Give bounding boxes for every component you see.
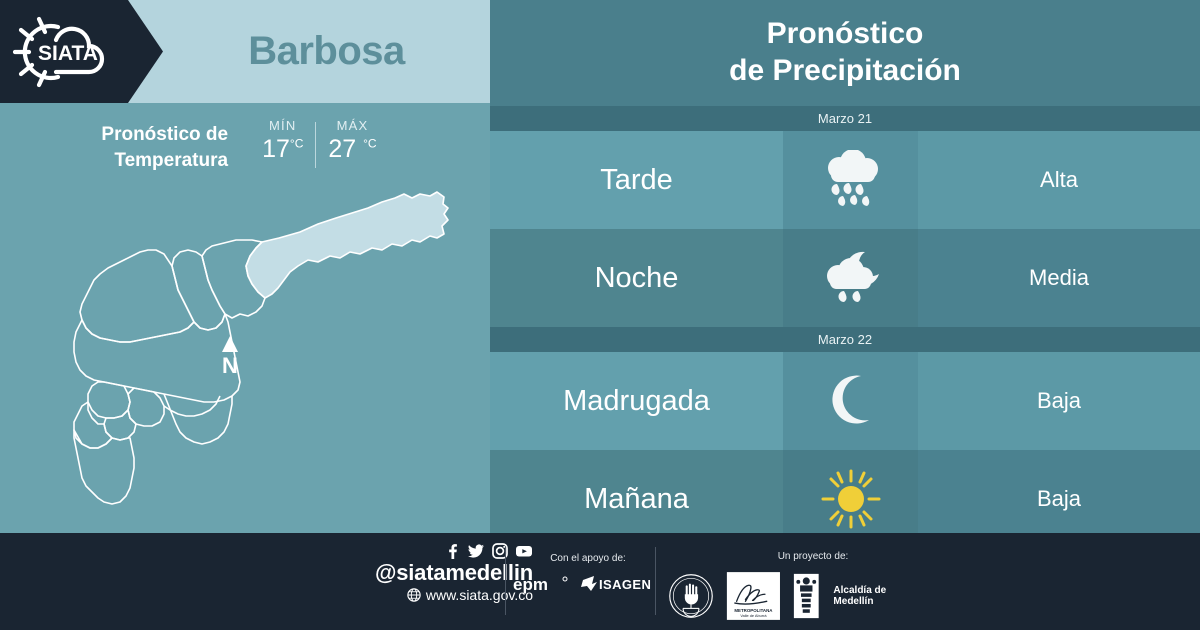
temperature-divider <box>315 122 316 168</box>
map-region-barbosa <box>246 192 448 298</box>
footer-divider-2 <box>655 547 656 615</box>
twitter-icon[interactable] <box>467 543 485 559</box>
temperature-min-value: 17°C <box>262 135 303 164</box>
forecast-icon-cell <box>783 131 918 229</box>
temperature-title-line1: Pronóstico de <box>101 122 228 148</box>
siata-logo-text: SIATA <box>38 42 98 65</box>
table-row[interactable]: Madrugada Baja <box>490 352 1200 450</box>
project-group: Un proyecto de: <box>668 551 918 624</box>
page-title: Barbosa <box>163 0 490 103</box>
facebook-icon[interactable] <box>444 543 460 559</box>
date-band-2: Marzo 22 <box>490 327 1200 352</box>
area-logo-sub2: Valle de Aburrá <box>740 613 767 618</box>
udea-seal-logo <box>668 570 714 622</box>
forecast-title: Pronóstico de Precipitación <box>490 0 1200 106</box>
temperature-title-line2: Temperatura <box>101 148 228 174</box>
sun-cloud-icon: SIATA <box>12 14 130 90</box>
date-band-1: Marzo 21 <box>490 106 1200 131</box>
temperature-max-value: 27 °C <box>328 135 376 164</box>
globe-icon <box>407 588 421 602</box>
forecast-probability: Baja <box>918 352 1200 450</box>
map-region-medellin <box>74 314 240 402</box>
table-row[interactable]: Noche <box>490 229 1200 327</box>
isagen-logo: ISAGEN <box>581 574 663 594</box>
support-group: Con el apoyo de: epm ISAGEN <box>513 553 663 594</box>
temperature-min: MÍN 17°C <box>250 118 315 164</box>
map-region-bello <box>80 250 194 342</box>
forecast-table: Marzo 21 Tarde <box>490 106 1200 548</box>
temperature-title: Pronóstico de Temperatura <box>101 118 228 173</box>
footer: @siatamedellin www.siata.gov.co Con el a… <box>0 533 1200 630</box>
website-line[interactable]: www.siata.gov.co <box>318 587 533 603</box>
map-region-copacabana <box>172 250 225 330</box>
svg-text:ISAGEN: ISAGEN <box>599 577 651 592</box>
temperature-block: Pronóstico de Temperatura MÍN 17°C MÁX 2… <box>0 118 490 184</box>
rain-cloud-icon <box>817 150 885 210</box>
forecast-period: Madrugada <box>490 352 783 450</box>
area-metropolitana-logo: METROPOLITANA Valle de Aburrá <box>726 568 781 624</box>
forecast-period: Tarde <box>490 131 783 229</box>
left-panel: SIATA Barbosa Pronóstico de Temperatura … <box>0 0 490 533</box>
svg-text:epm: epm <box>513 575 548 594</box>
temperature-max: MÁX 27 °C <box>316 118 388 164</box>
project-caption: Un proyecto de: <box>708 551 918 562</box>
map-region-caldas <box>74 430 134 504</box>
aburra-valley-map: N <box>0 180 490 533</box>
footer-divider-1 <box>505 547 506 615</box>
project-logos: METROPOLITANA Valle de Aburrá <box>668 568 918 624</box>
city-header-band: SIATA Barbosa <box>0 0 490 103</box>
social-icons <box>318 543 533 559</box>
temperature-min-label: MÍN <box>262 118 303 133</box>
north-arrow-label: N <box>222 353 238 378</box>
forecast-title-line2: de Precipitación <box>729 53 961 90</box>
temperature-values: MÍN 17°C MÁX 27 °C <box>250 118 389 168</box>
support-caption: Con el apoyo de: <box>513 553 663 564</box>
alcaldia-label: Alcaldía de Medellín <box>833 585 918 607</box>
forecast-probability: Media <box>918 229 1200 327</box>
table-row[interactable]: Tarde <box>490 131 1200 229</box>
temperature-max-label: MÁX <box>328 118 376 133</box>
epm-logo: epm <box>513 574 571 594</box>
moon-icon <box>821 372 881 430</box>
north-arrow-icon: N <box>222 336 238 378</box>
social-handle[interactable]: @siatamedellin <box>318 561 533 586</box>
forecast-period: Noche <box>490 229 783 327</box>
infographic-canvas: SIATA Barbosa Pronóstico de Temperatura … <box>0 0 1200 630</box>
siata-logo-badge: SIATA <box>0 0 163 103</box>
social-group: @siatamedellin www.siata.gov.co <box>318 543 533 603</box>
alcaldia-shield-logo <box>793 570 820 622</box>
precipitation-panel: Pronóstico de Precipitación Marzo 21 Tar… <box>490 0 1200 533</box>
forecast-icon-cell <box>783 229 918 327</box>
forecast-icon-cell <box>783 352 918 450</box>
forecast-title-line1: Pronóstico <box>767 16 924 53</box>
moon-rain-cloud-icon <box>817 248 885 308</box>
sun-icon <box>819 468 883 530</box>
map-region-itagui <box>88 382 130 418</box>
support-logos: epm ISAGEN <box>513 574 663 594</box>
forecast-probability: Alta <box>918 131 1200 229</box>
